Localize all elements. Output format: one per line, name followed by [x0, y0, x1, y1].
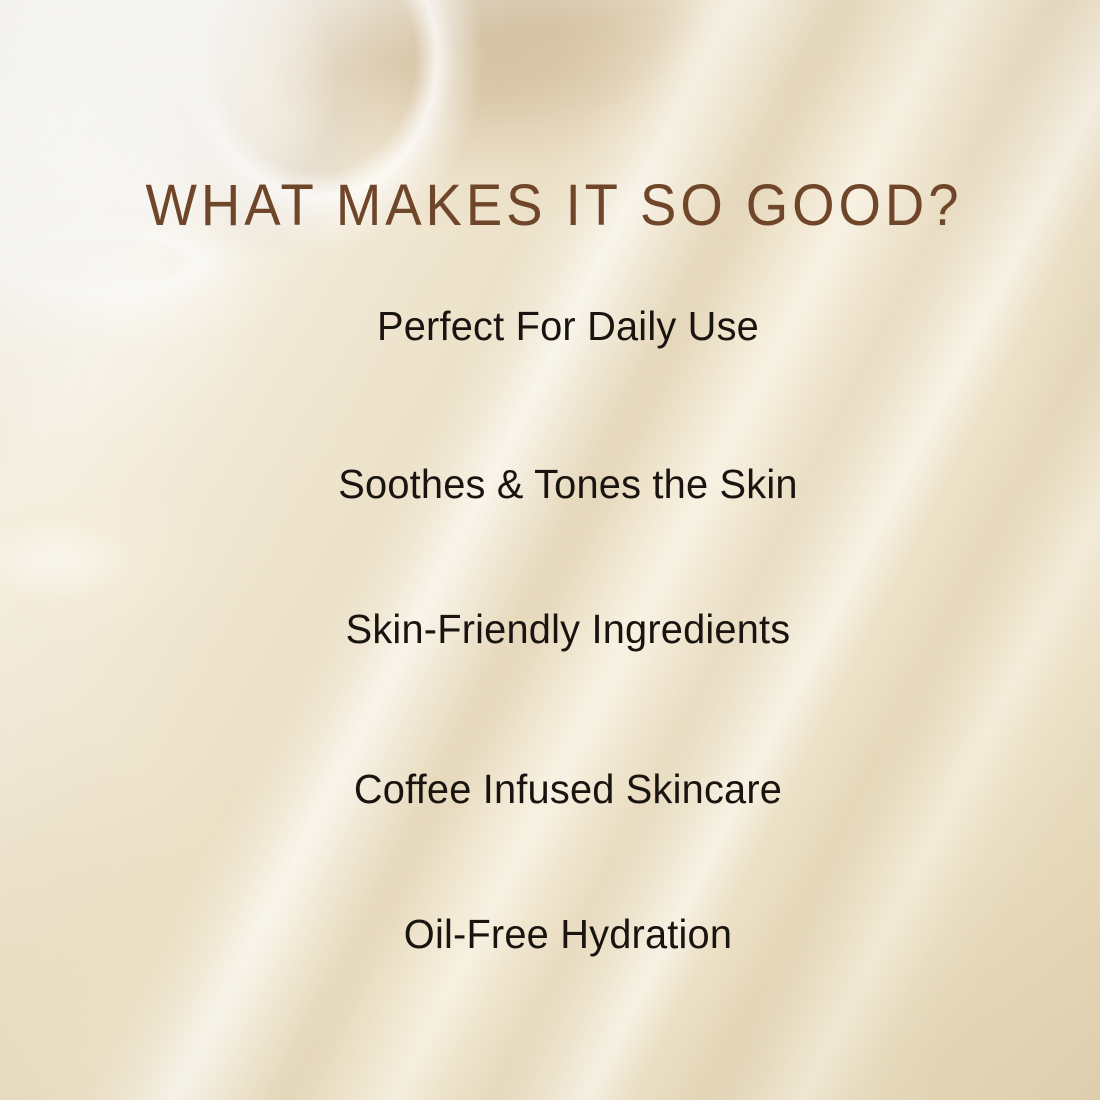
page-title: WHAT MAKES IT SO GOOD? — [33, 177, 1075, 235]
poster-content: WHAT MAKES IT SO GOOD? Perfect For Daily… — [0, 0, 1100, 1100]
list-item: Skin-Friendly Ingredients — [17, 609, 1100, 650]
list-item: Coffee Infused Skincare — [17, 769, 1100, 810]
list-item: Soothes & Tones the Skin — [17, 464, 1100, 505]
list-item: Oil-Free Hydration — [17, 914, 1100, 955]
list-item: Perfect For Daily Use — [17, 306, 1100, 347]
promo-poster: WHAT MAKES IT SO GOOD? Perfect For Daily… — [0, 0, 1100, 1100]
